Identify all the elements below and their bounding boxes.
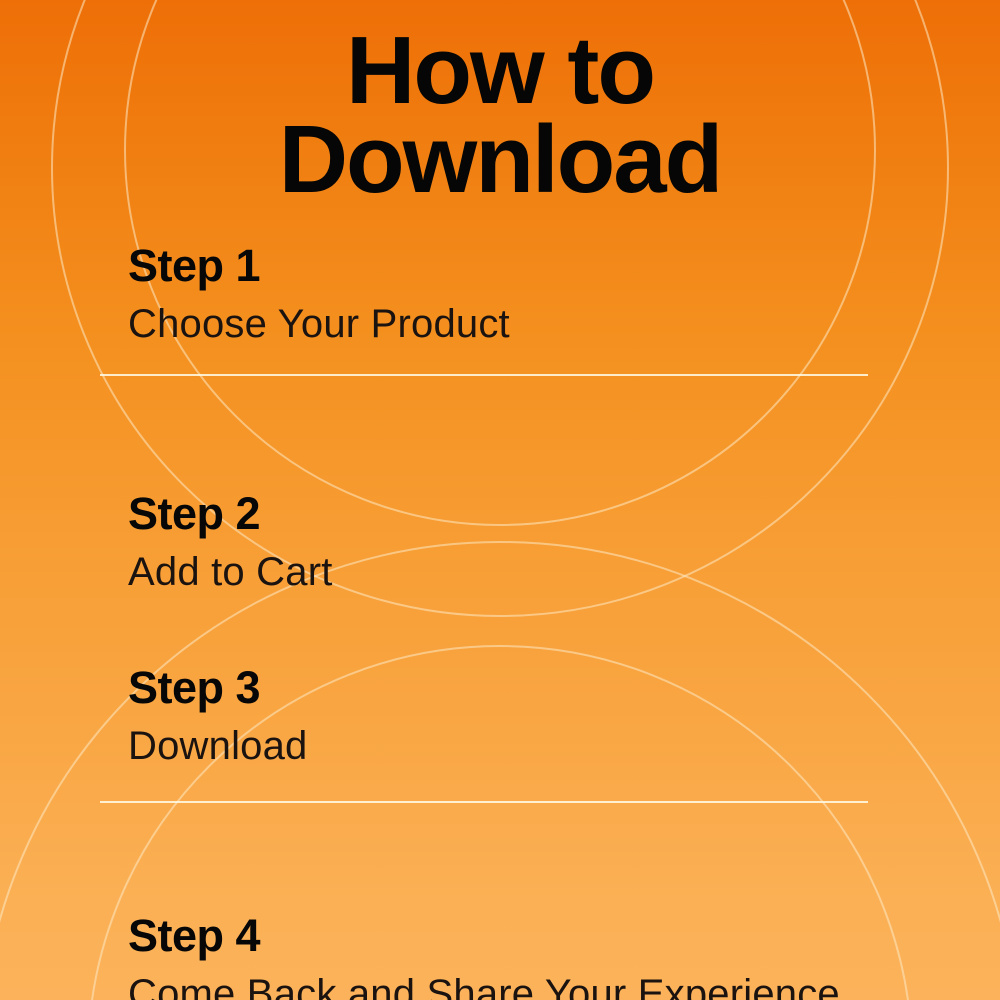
step-4-label: Step 4 — [128, 913, 868, 958]
spacer-before-step-3 — [100, 628, 868, 665]
step-4-description: Come Back and Share Your Experience — [128, 974, 868, 1000]
step-3-description: Download — [128, 726, 868, 766]
list-item-step-1: Step 1 Choose Your Product — [100, 243, 868, 344]
page-title: How to Download — [0, 26, 1000, 205]
spacer-after-step-3 — [100, 766, 868, 801]
spacer-before-step-2 — [100, 376, 868, 491]
step-2-label: Step 2 — [128, 491, 868, 536]
page-title-line-2: Download — [0, 115, 1000, 204]
step-1-description: Choose Your Product — [128, 304, 868, 344]
how-to-download-poster: How to Download Step 1 Choose Your Produ… — [0, 0, 1000, 1000]
spacer-before-step-4 — [100, 803, 868, 913]
step-2-description: Add to Cart — [128, 552, 868, 592]
list-item-step-4: Step 4 Come Back and Share Your Experien… — [100, 913, 868, 1000]
page-title-line-1: How to — [0, 26, 1000, 115]
list-item-step-2: Step 2 Add to Cart — [100, 491, 868, 592]
steps-list: Step 1 Choose Your Product Step 2 Add to… — [100, 243, 868, 1000]
step-1-label: Step 1 — [128, 243, 868, 288]
step-3-label: Step 3 — [128, 665, 868, 710]
list-item-step-3: Step 3 Download — [100, 665, 868, 766]
spacer-after-step-2 — [100, 592, 868, 628]
spacer-after-step-1 — [100, 344, 868, 374]
